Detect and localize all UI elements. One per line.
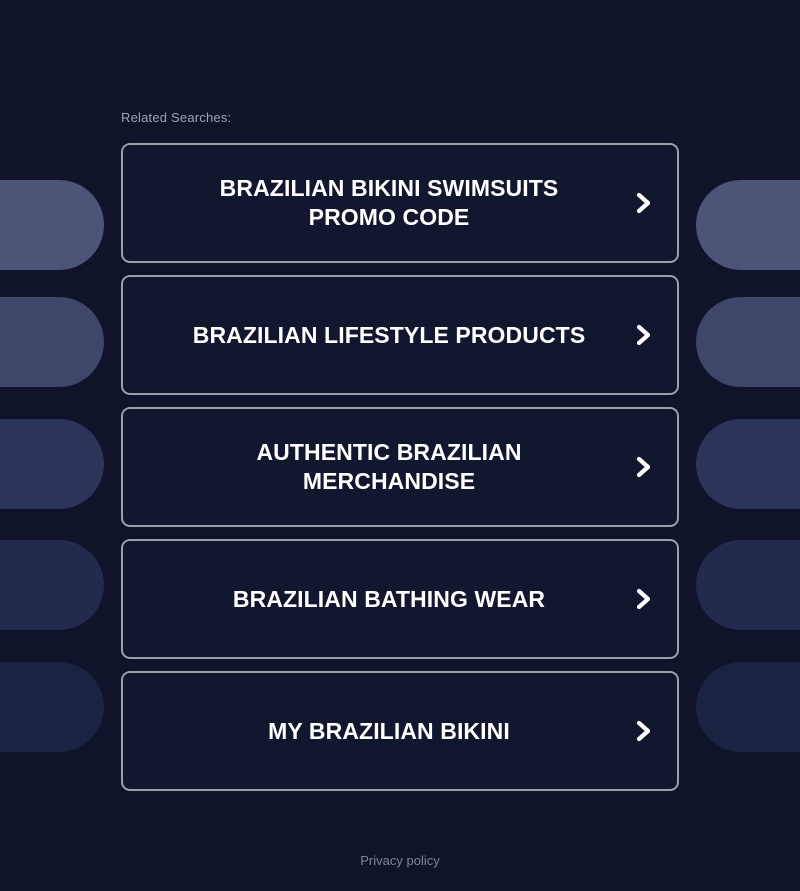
chevron-right-icon — [631, 187, 657, 219]
related-search-item-1[interactable]: BRAZILIAN BIKINI SWIMSUITS PROMO CODE — [121, 143, 679, 263]
related-search-label: BRAZILIAN BATHING WEAR — [233, 585, 545, 614]
related-search-item-2[interactable]: BRAZILIAN LIFESTYLE PRODUCTS — [121, 275, 679, 395]
related-search-label: MY BRAZILIAN BIKINI — [268, 717, 510, 746]
related-searches-list: BRAZILIAN BIKINI SWIMSUITS PROMO CODE BR… — [121, 143, 679, 791]
related-search-item-4[interactable]: BRAZILIAN BATHING WEAR — [121, 539, 679, 659]
chevron-right-icon — [631, 583, 657, 615]
related-search-item-3[interactable]: AUTHENTIC BRAZILIAN MERCHANDISE — [121, 407, 679, 527]
related-search-item-5[interactable]: MY BRAZILIAN BIKINI — [121, 671, 679, 791]
chevron-right-icon — [631, 715, 657, 747]
chevron-right-icon — [631, 319, 657, 351]
related-search-label: BRAZILIAN BIKINI SWIMSUITS PROMO CODE — [179, 174, 599, 232]
related-searches-label: Related Searches: — [121, 110, 231, 126]
related-search-label: AUTHENTIC BRAZILIAN MERCHANDISE — [179, 438, 599, 496]
privacy-policy-link[interactable]: Privacy policy — [360, 853, 439, 868]
page-footer: Privacy policy — [0, 852, 800, 870]
chevron-right-icon — [631, 451, 657, 483]
parked-domain-page: Related Searches: BRAZILIAN BIKINI SWIMS… — [0, 0, 800, 891]
related-search-label: BRAZILIAN LIFESTYLE PRODUCTS — [193, 321, 586, 350]
